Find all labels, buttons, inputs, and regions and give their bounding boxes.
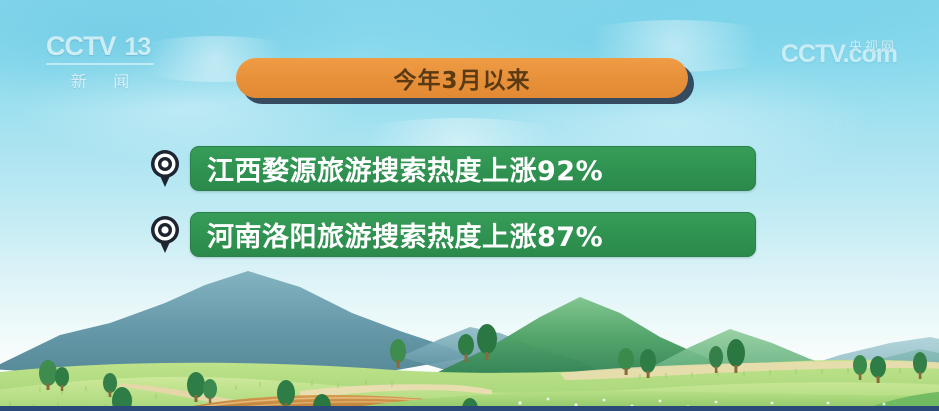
stat-row: 河南洛阳旅游搜索热度上涨87% bbox=[148, 212, 756, 257]
stat-chip: 河南洛阳旅游搜索热度上涨87% bbox=[190, 212, 756, 257]
stat-text: 河南洛阳旅游搜索热度上涨87% bbox=[207, 215, 603, 254]
bottom-color-strip bbox=[0, 406, 939, 411]
landscape-illustration bbox=[0, 261, 939, 411]
channel-number: 13 bbox=[123, 35, 153, 60]
cctv13-logo-icon: CCTV 13 新 闻 bbox=[46, 33, 176, 95]
headline-banner: 今年3月以来 bbox=[236, 58, 688, 98]
stat-text: 江西婺源旅游搜索热度上涨92% bbox=[207, 149, 603, 188]
map-pin-icon bbox=[148, 213, 182, 257]
broadcast-graphic: CCTV 13 新 闻 央视网 CCTV.com 今年3月以来 江西婺源旅游搜索… bbox=[0, 0, 939, 411]
stat-row: 江西婺源旅游搜索热度上涨92% bbox=[148, 146, 756, 191]
stat-chip: 江西婺源旅游搜索热度上涨92% bbox=[190, 146, 756, 191]
banner-body: 今年3月以来 bbox=[236, 58, 688, 98]
channel-label: 新 闻 bbox=[46, 68, 154, 92]
watermark-site-cn: 央视网 bbox=[849, 36, 897, 55]
banner-title: 今年3月以来 bbox=[393, 61, 530, 95]
map-pin-icon bbox=[148, 147, 182, 191]
cctv-com-watermark-icon: 央视网 CCTV.com bbox=[781, 42, 897, 67]
logo-divider bbox=[46, 63, 154, 65]
cctv-wordmark: CCTV bbox=[46, 33, 116, 60]
